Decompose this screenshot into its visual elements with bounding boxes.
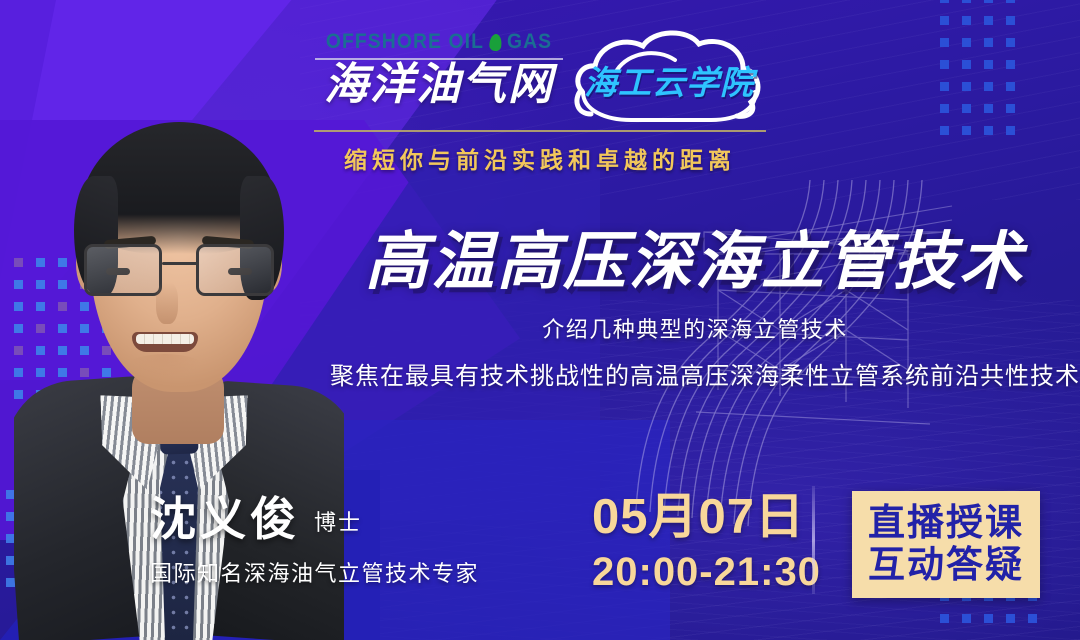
portrait-mouth [132, 332, 198, 352]
cloud-academy-label: 海工云学院 [571, 56, 767, 104]
brand-chinese-name: 海洋油气网 [313, 63, 565, 108]
speaker-name-row: 沈义俊 博士 [150, 496, 479, 542]
brand-english-line: OFFSHORE OIL GAS [323, 30, 555, 54]
speaker-info: 沈义俊 博士 国际知名深海油气立管技术专家 [150, 496, 479, 588]
brand-logo-row: OFFSHORE OIL GAS 海洋油气网 海工云学院 [310, 26, 770, 122]
brand-logo-primary: OFFSHORE OIL GAS 海洋油气网 [313, 26, 565, 108]
subtitle-line-1: 介绍几种典型的深海立管技术 [330, 312, 1060, 344]
portrait-lens-right [196, 244, 274, 296]
portrait-glasses-bridge [162, 262, 198, 265]
headline-block: 高温高压深海立管技术 介绍几种典型的深海立管技术 聚焦在最具有技术挑战性的高温高… [330, 228, 1060, 391]
webinar-promo-poster: OFFSHORE OIL GAS 海洋油气网 海工云学院 [0, 0, 1080, 640]
tagline-divider-rule [314, 130, 766, 132]
event-time: 20:00-21:30 [592, 552, 821, 592]
page-title: 高温高压深海立管技术 [330, 228, 1060, 296]
schedule-badge-divider [812, 486, 815, 594]
brand-logo-header: OFFSHORE OIL GAS 海洋油气网 海工云学院 [0, 26, 1080, 175]
brand-divider-rule [315, 58, 563, 60]
brand-logo: OFFSHORE OIL GAS 海洋油气网 海工云学院 [310, 26, 770, 175]
portrait-teeth [136, 334, 194, 344]
status-badge: 直播授课 互动答疑 [852, 491, 1040, 598]
speaker-name: 沈义俊 [150, 496, 300, 542]
brand-tagline: 缩短你与前沿实践和卓越的距离 [310, 141, 770, 175]
badge-line-1: 直播授课 [868, 502, 1024, 543]
cloud-academy-badge: 海工云学院 [571, 26, 767, 122]
brand-english-tail: GAS [507, 30, 552, 54]
speaker-degree: 博士 [314, 505, 362, 542]
oil-drop-icon [489, 32, 503, 52]
portrait-chin [126, 354, 204, 380]
speaker-role: 国际知名深海油气立管技术专家 [150, 556, 479, 588]
portrait-nose [156, 282, 178, 324]
portrait-lens-left [84, 244, 162, 296]
eyeglasses-icon [82, 244, 276, 306]
subtitle-line-2: 聚焦在最具有技术挑战性的高温高压深海柔性立管系统前沿共性技术 [330, 356, 1060, 391]
badge-line-2: 互动答疑 [868, 544, 1024, 585]
brand-english-head: OFFSHORE OIL [326, 30, 484, 54]
schedule-block: 05月07日 20:00-21:30 [592, 493, 821, 592]
event-date: 05月07日 [592, 493, 821, 542]
